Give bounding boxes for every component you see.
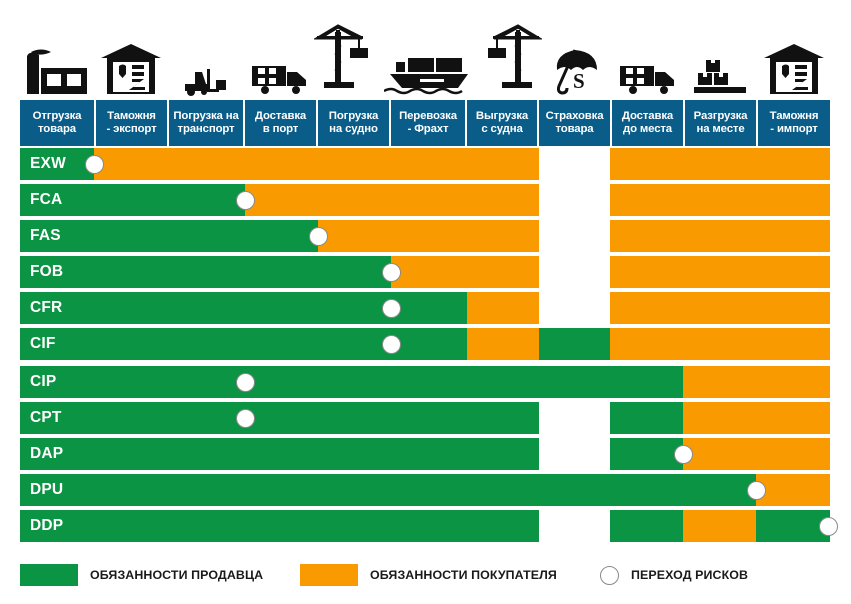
risk-transfer-point-marker xyxy=(674,445,693,464)
legend-label: ОБЯЗАННОСТИ ПРОДАВЦА xyxy=(90,568,263,582)
risk-transfer-point-marker xyxy=(747,481,766,500)
column-header-delivery-place: Доставкадо места xyxy=(612,100,683,146)
column-header-line2: с судна xyxy=(476,123,528,136)
column-header-shipment: Отгрузкатовара xyxy=(20,100,94,146)
risk-transfer-point-marker xyxy=(236,191,255,210)
incoterm-row-cpt[interactable]: CPT xyxy=(20,402,830,434)
truck-icon xyxy=(251,62,309,96)
column-header-line1: Погрузка на xyxy=(173,110,238,123)
forklift-icon xyxy=(183,66,229,96)
seller-responsibility-segment xyxy=(610,402,683,434)
column-header-line1: Разгрузка xyxy=(694,110,748,123)
incoterm-row-dpu[interactable]: DPU xyxy=(20,474,830,506)
legend-label: ОБЯЗАННОСТИ ПОКУПАТЕЛЯ xyxy=(370,568,557,582)
column-header-delivery-port: Доставкав порт xyxy=(245,100,316,146)
incoterm-row-fob[interactable]: FOB xyxy=(20,256,830,288)
column-header-line2: до места xyxy=(622,123,673,136)
not-applicable-segment xyxy=(539,510,610,542)
risk-transfer-point-marker xyxy=(309,227,328,246)
seller-responsibility-segment xyxy=(20,148,94,180)
seller-responsibility-segment xyxy=(610,438,683,470)
incoterm-row-cfr[interactable]: CFR xyxy=(20,292,830,324)
legend-item-risk: ПЕРЕХОД РИСКОВ xyxy=(600,566,748,585)
buyer-responsibility-segment xyxy=(610,292,830,324)
buyer-responsibility-segment xyxy=(610,220,830,252)
buyer-responsibility-segment xyxy=(683,402,830,434)
buyer-responsibility-segment xyxy=(610,148,830,180)
risk-transfer-point-marker xyxy=(85,155,104,174)
delivery-truck-icon xyxy=(619,62,677,96)
seller-responsibility-segment xyxy=(20,474,756,506)
risk-transfer-point-marker xyxy=(819,517,838,536)
buyer-responsibility-segment xyxy=(94,148,539,180)
cargo-ship-icon xyxy=(384,54,474,96)
legend-label: ПЕРЕХОД РИСКОВ xyxy=(631,568,748,582)
icon-strip: S xyxy=(20,6,830,96)
insurance-umbrella-icon: S xyxy=(550,46,600,96)
legend-swatch-green xyxy=(20,564,78,586)
factory-icon xyxy=(25,48,89,96)
buyer-responsibility-segment xyxy=(683,366,830,398)
column-header-line2: товара xyxy=(546,123,604,136)
incoterm-row-cif[interactable]: CIF xyxy=(20,328,830,360)
column-header-unloading-place: Разгрузкана месте xyxy=(685,100,756,146)
column-header-line1: Доставка xyxy=(622,110,673,123)
column-header-line2: - импорт xyxy=(770,123,819,136)
column-header-loading-vessel: Погрузкана судно xyxy=(318,100,389,146)
incoterm-row-fca[interactable]: FCA xyxy=(20,184,830,216)
buyer-responsibility-segment xyxy=(683,438,830,470)
not-applicable-segment xyxy=(539,184,610,216)
buyer-responsibility-segment xyxy=(756,474,830,506)
column-header-unloading-vessel: Выгрузкас судна xyxy=(467,100,537,146)
legend-item-seller: ОБЯЗАННОСТИ ПРОДАВЦА xyxy=(20,564,263,586)
legend-risk-circle-icon xyxy=(600,566,619,585)
not-applicable-segment xyxy=(539,220,610,252)
column-header-line1: Перевозка xyxy=(399,110,457,123)
buyer-responsibility-segment xyxy=(610,256,830,288)
buyer-responsibility-segment xyxy=(467,292,539,324)
incoterm-row-ddp[interactable]: DDP xyxy=(20,510,830,542)
risk-transfer-point-marker xyxy=(382,263,401,282)
column-header-line2: на судно xyxy=(329,123,378,136)
buyer-responsibility-segment xyxy=(318,220,539,252)
legend-swatch-orange xyxy=(300,564,358,586)
risk-transfer-point-marker xyxy=(382,299,401,318)
seller-responsibility-segment xyxy=(20,220,318,252)
svg-text:S: S xyxy=(573,69,585,93)
buyer-responsibility-segment xyxy=(245,184,539,216)
column-header-line2: транспорт xyxy=(173,123,238,136)
seller-responsibility-segment xyxy=(20,402,539,434)
buyer-responsibility-segment xyxy=(467,328,539,360)
not-applicable-segment xyxy=(539,148,610,180)
warehouse-import-icon xyxy=(763,42,825,96)
column-header-line1: Отгрузка xyxy=(33,110,82,123)
risk-transfer-point-marker xyxy=(382,335,401,354)
warehouse-customs-icon xyxy=(100,42,162,96)
incoterm-row-cip[interactable]: CIP xyxy=(20,366,830,398)
column-header-line2: товара xyxy=(33,123,82,136)
seller-responsibility-segment xyxy=(20,438,539,470)
legend-item-buyer: ОБЯЗАННОСТИ ПОКУПАТЕЛЯ xyxy=(300,564,557,586)
not-applicable-segment xyxy=(539,438,610,470)
column-header-line1: Таможня xyxy=(106,110,156,123)
unloading-crane-icon xyxy=(464,18,542,96)
incoterms-chart: S ОтгрузкатовараТаможня- экспортПогрузка… xyxy=(0,0,851,604)
seller-responsibility-segment xyxy=(20,184,245,216)
seller-responsibility-segment xyxy=(20,366,683,398)
incoterm-row-exw[interactable]: EXW xyxy=(20,148,830,180)
seller-responsibility-segment xyxy=(20,510,539,542)
column-header-line1: Таможня xyxy=(770,110,819,123)
column-header-loading-transport: Погрузка натранспорт xyxy=(169,100,243,146)
seller-responsibility-segment xyxy=(610,510,683,542)
not-applicable-segment xyxy=(539,402,610,434)
not-applicable-segment xyxy=(539,256,610,288)
column-header-row: ОтгрузкатовараТаможня- экспортПогрузка н… xyxy=(20,100,830,146)
incoterm-row-dap[interactable]: DAP xyxy=(20,438,830,470)
legend: ОБЯЗАННОСТИ ПРОДАВЦАОБЯЗАННОСТИ ПОКУПАТЕ… xyxy=(20,562,830,588)
column-header-line1: Погрузка xyxy=(329,110,378,123)
incoterms-matrix: EXWFCAFASFOBCFRCIFCIPCPTDAPDPUDDP xyxy=(20,148,830,544)
column-header-line2: - Фрахт xyxy=(399,123,457,136)
column-header-line2: - экспорт xyxy=(106,123,156,136)
column-header-line2: в порт xyxy=(255,123,306,136)
not-applicable-segment xyxy=(539,292,610,324)
seller-responsibility-segment xyxy=(539,328,610,360)
risk-transfer-point-marker xyxy=(236,409,255,428)
buyer-responsibility-segment xyxy=(683,510,756,542)
column-header-line1: Страховка xyxy=(546,110,604,123)
buyer-responsibility-segment xyxy=(610,328,830,360)
risk-transfer-point-marker xyxy=(236,373,255,392)
buyer-responsibility-segment xyxy=(610,184,830,216)
incoterm-row-fas[interactable]: FAS xyxy=(20,220,830,252)
column-header-customs-import: Таможня- импорт xyxy=(758,100,830,146)
column-header-line2: на месте xyxy=(694,123,748,136)
pallet-boxes-icon xyxy=(692,58,748,96)
port-crane-icon xyxy=(314,18,392,96)
column-header-line1: Доставка xyxy=(255,110,306,123)
seller-responsibility-segment xyxy=(20,256,391,288)
column-header-line1: Выгрузка xyxy=(476,110,528,123)
column-header-freight: Перевозка- Фрахт xyxy=(391,100,465,146)
buyer-responsibility-segment xyxy=(391,256,539,288)
column-header-customs-export: Таможня- экспорт xyxy=(96,100,167,146)
column-header-insurance: Страховкатовара xyxy=(539,100,610,146)
